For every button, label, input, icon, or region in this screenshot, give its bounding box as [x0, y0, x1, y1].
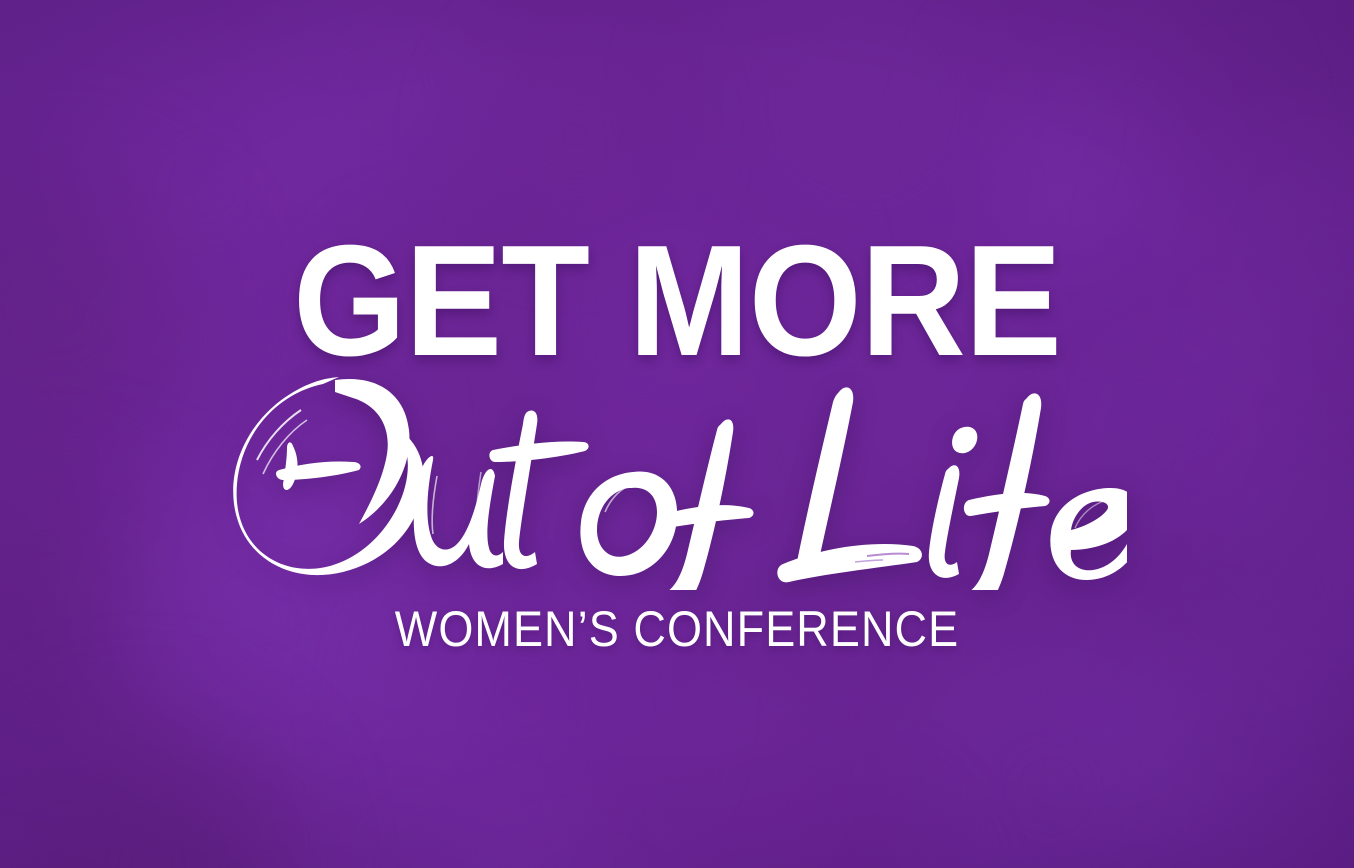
poster-headline: GET MORE: [54, 222, 1300, 380]
poster-script-line: Out of Life: [227, 372, 1127, 590]
poster-script-line-wrap: Out of Life: [0, 372, 1354, 602]
conference-poster: GET MORE Out of Life: [0, 0, 1354, 868]
poster-content: GET MORE Out of Life: [0, 0, 1354, 868]
poster-subtitle: WOMEN’S CONFERENCE: [68, 604, 1287, 654]
